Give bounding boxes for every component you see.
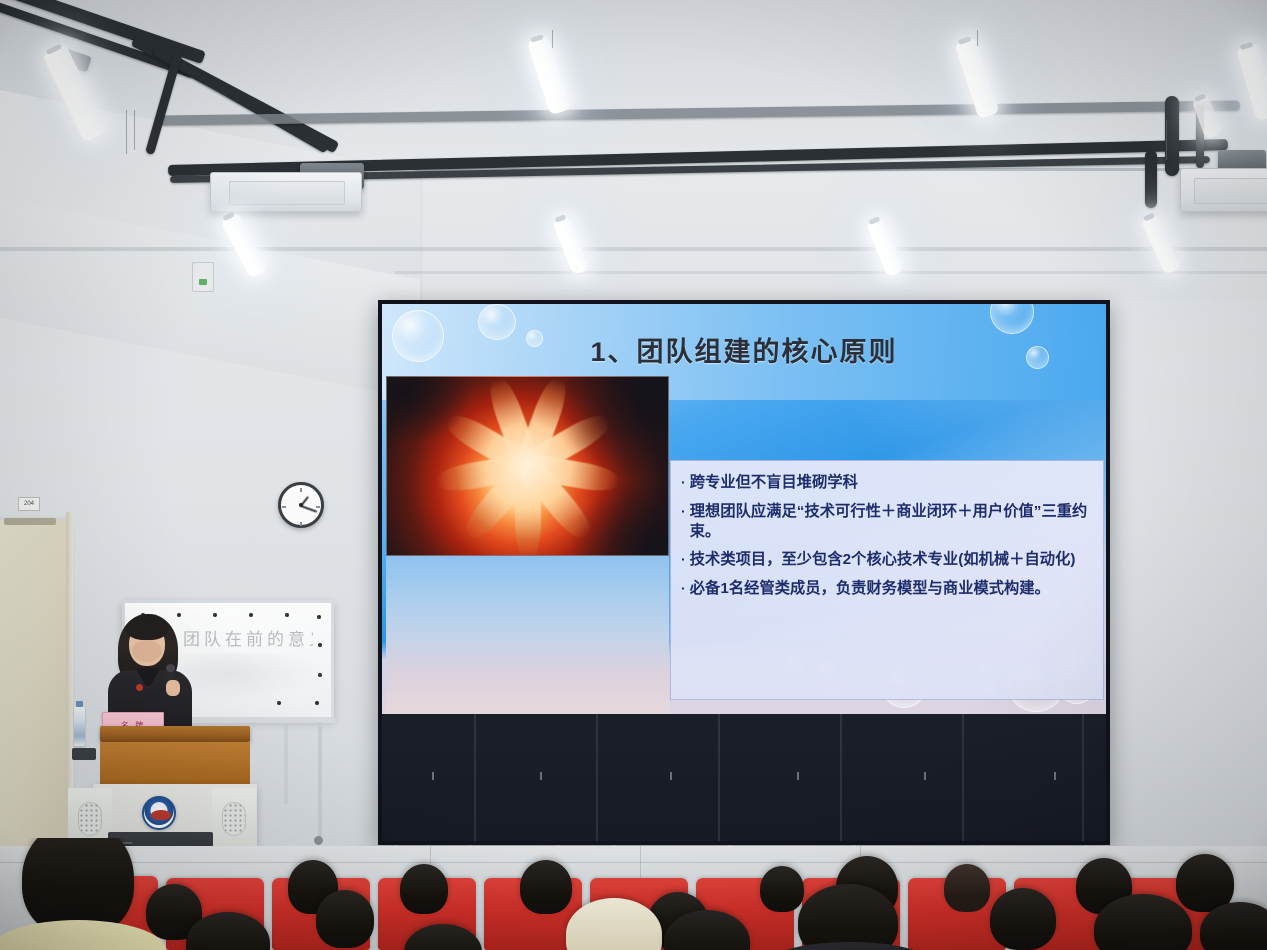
- clock-tick: [316, 506, 320, 508]
- clock-tick: [300, 522, 302, 526]
- slide-content-box: · 跨专业但不盲目堆砌学科 · 理想团队应满足“技术可行性＋商业闭环＋用户价值”…: [670, 460, 1104, 700]
- audience-head-foreground: [798, 884, 898, 950]
- photo-shadow-region: [558, 376, 669, 485]
- led-panel-seam: [840, 714, 842, 841]
- led-indicator: [1054, 772, 1056, 780]
- slide-bullet-text: 跨专业但不盲目堆砌学科: [690, 473, 1095, 493]
- presenter-badge: [136, 684, 143, 691]
- whiteboard-magnet: [318, 673, 322, 677]
- slide-photo-teamwork: [386, 376, 669, 556]
- ceiling-cable-drop: [1145, 150, 1157, 208]
- presenter-hair-front: [126, 616, 168, 640]
- slide-bullet-text: 必备1名经管类成员，负责财务模型与商业模式构建。: [690, 579, 1095, 599]
- desk-device: [72, 748, 96, 760]
- led-panel-seam: [718, 714, 720, 841]
- led-indicator: [924, 772, 926, 780]
- audience-area: [0, 838, 1267, 950]
- slide-bullet: · 跨专业但不盲目堆砌学科: [681, 473, 1095, 493]
- slide-bullet: · 必备1名经管类成员，负责财务模型与商业模式构建。: [681, 579, 1095, 599]
- led-panel-seam: [962, 714, 964, 841]
- audience-head: [990, 888, 1056, 950]
- bullet-marker-icon: ·: [681, 579, 686, 597]
- audience-head: [520, 860, 572, 914]
- bullet-marker-icon: ·: [681, 550, 686, 568]
- whiteboard-magnet: [317, 615, 321, 619]
- led-indicator: [670, 772, 672, 780]
- clock-tick: [300, 488, 302, 492]
- light-suspension-wire: [977, 30, 978, 46]
- led-display-wall[interactable]: 1、团队组建的核心原则 · 跨专业但不: [378, 300, 1110, 845]
- led-panel-seam: [596, 714, 598, 841]
- bullet-marker-icon: ·: [681, 502, 686, 520]
- lecture-hall-scene: 204 团队在前的意义 名 牌: [0, 0, 1267, 950]
- audience-head: [316, 890, 374, 948]
- clock-tick: [282, 506, 286, 508]
- led-panel-seam: [1082, 714, 1084, 841]
- led-wall-lower-panels: [382, 714, 1106, 841]
- podium-desktop: [100, 726, 250, 742]
- wall-trim-line: [0, 247, 1267, 251]
- podium-front-panel: [100, 742, 250, 784]
- photo-shadow-region: [386, 376, 471, 443]
- audience-shoulder-foreground: [770, 942, 930, 950]
- slide-bullet: · 技术类项目，至少包含2个核心技术专业(如机械＋自动化): [681, 550, 1095, 570]
- audience-head: [760, 866, 804, 912]
- ac-ceiling-vent: [1180, 168, 1267, 212]
- led-indicator: [432, 772, 434, 780]
- slide-bullet: · 理想团队应满足“技术可行性＋商业闭环＋用户价值”三重约束。: [681, 502, 1095, 542]
- water-bottle: [74, 706, 85, 746]
- emergency-exit-sign: [192, 262, 214, 292]
- led-indicator: [540, 772, 542, 780]
- light-suspension-wire: [552, 30, 553, 48]
- whiteboard-magnet: [318, 643, 322, 647]
- wall-trim-line-secondary: [395, 271, 1267, 274]
- room-number-sign: 204: [18, 497, 40, 511]
- led-indicator: [797, 772, 799, 780]
- ceiling-cable-conduit: [1165, 96, 1179, 176]
- light-suspension-wire: [134, 110, 135, 150]
- whiteboard-magnet: [249, 613, 253, 617]
- whiteboard-magnet: [213, 613, 217, 617]
- ac-ceiling-vent: [210, 172, 362, 212]
- whiteboard-magnet: [285, 613, 289, 617]
- whiteboard-magnet: [315, 701, 319, 705]
- audience-head: [944, 864, 990, 912]
- light-suspension-wire: [126, 110, 127, 154]
- light-suspension-wire: [1166, 120, 1167, 160]
- slide-bullet-text: 技术类项目，至少包含2个核心技术专业(如机械＋自动化): [690, 550, 1095, 570]
- clock-minute-hand: [301, 505, 318, 513]
- presenter-face-shading: [132, 640, 162, 662]
- speaker-grill-icon: [78, 802, 102, 836]
- presentation-slide: 1、团队组建的核心原则 · 跨专业但不: [382, 304, 1106, 714]
- wall-clock: [278, 482, 324, 528]
- slide-photo-lower-gradient: [386, 556, 669, 714]
- presenter-hand: [166, 680, 180, 696]
- room-door[interactable]: [0, 520, 68, 870]
- led-panel-seam: [474, 714, 476, 841]
- slide-title: 1、团队组建的核心原则: [382, 330, 1106, 369]
- door-closer-arm: [4, 518, 56, 525]
- school-emblem-icon: [142, 796, 176, 830]
- bullet-marker-icon: ·: [681, 473, 686, 491]
- whiteboard-stand-leg: [318, 722, 322, 840]
- slide-bullet-text: 理想团队应满足“技术可行性＋商业闭环＋用户价值”三重约束。: [690, 502, 1095, 542]
- audience-head: [400, 864, 448, 914]
- speaker-grill-icon: [222, 802, 246, 836]
- photo-shadow-region: [568, 475, 669, 556]
- clock-center-pin: [299, 503, 303, 507]
